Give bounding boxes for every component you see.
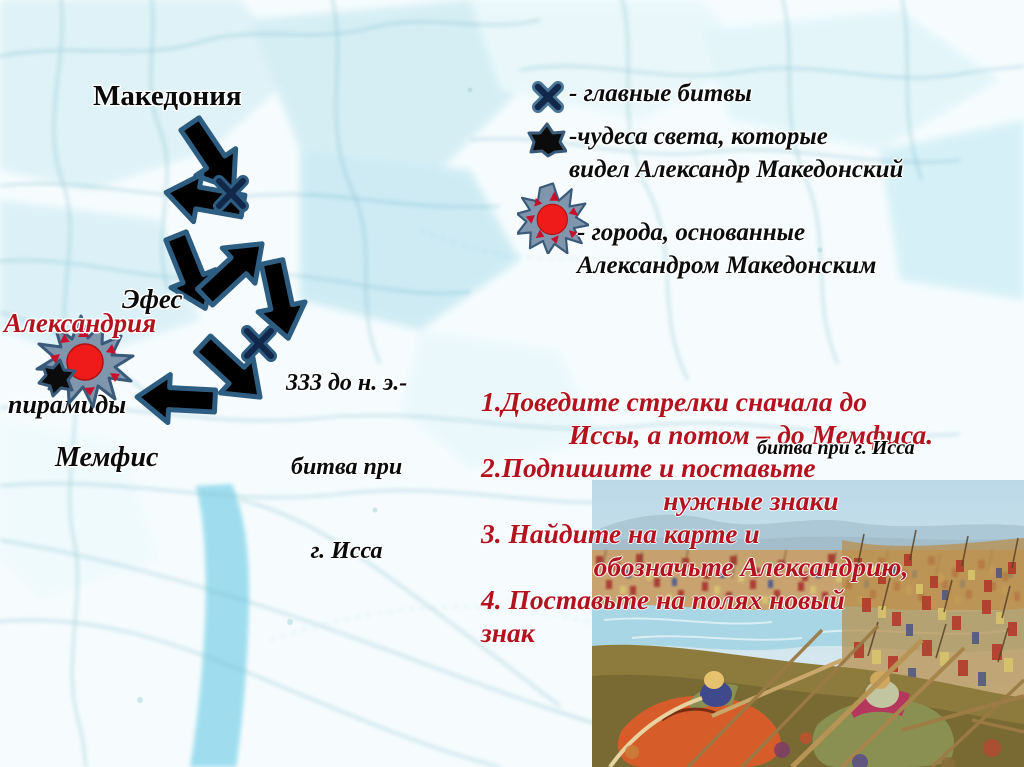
battle-note-line-1: 333 до н. э.- [286, 369, 407, 397]
instruction-line-6: обозначьте Александрию, [481, 550, 1021, 583]
instruction-line-7: 4. Поставьте на полях новый [481, 583, 1021, 616]
map-label-alexandria: Александрия [4, 310, 156, 338]
legend-label-battles: - главные битвы [569, 78, 752, 109]
legend-label-cities: - города, основанные Александром Македон… [577, 216, 876, 282]
instructions-list: 1.Доведите стрелки сначала до Иссы, а по… [481, 385, 1021, 649]
instruction-line-2: Иссы, а потом – до Мемфиса. [481, 418, 1021, 451]
star-7-icon [527, 122, 567, 158]
battle-note-line-3: г. Исса [286, 537, 407, 565]
battle-note-line-2: битва при [286, 453, 407, 481]
instruction-line-1: 1.Доведите стрелки сначала до [481, 385, 1021, 418]
legend-item-cities: - города, основанные Александром Македон… [521, 194, 1021, 270]
instruction-line-5: 3. Найдите на карте и [481, 517, 1021, 550]
legend-item-wonders: -чудеса света, которые видел Александр М… [521, 120, 1021, 194]
issus-caption: битва при г. Исса [757, 437, 915, 460]
slide-root: Македония Эфес Александрия пирамиды Мемф… [0, 0, 1024, 767]
legend: - главные битвы -чудеса света, которые в… [521, 78, 1021, 270]
instruction-line-8: знак [481, 616, 1021, 649]
legend-item-battles: - главные битвы [521, 78, 1021, 116]
instruction-line-4: нужные знаки [481, 484, 1021, 517]
battle-note: 333 до н. э.- битва при г. Исса [286, 313, 407, 621]
x-cross-icon [530, 80, 566, 114]
map-label-macedonia: Македония [93, 82, 242, 112]
instruction-line-3: 2.Подпишите и поставьте [481, 451, 1021, 484]
map-label-memphis: Мемфис [55, 444, 158, 473]
legend-label-wonders: -чудеса света, которые видел Александр М… [569, 120, 903, 186]
